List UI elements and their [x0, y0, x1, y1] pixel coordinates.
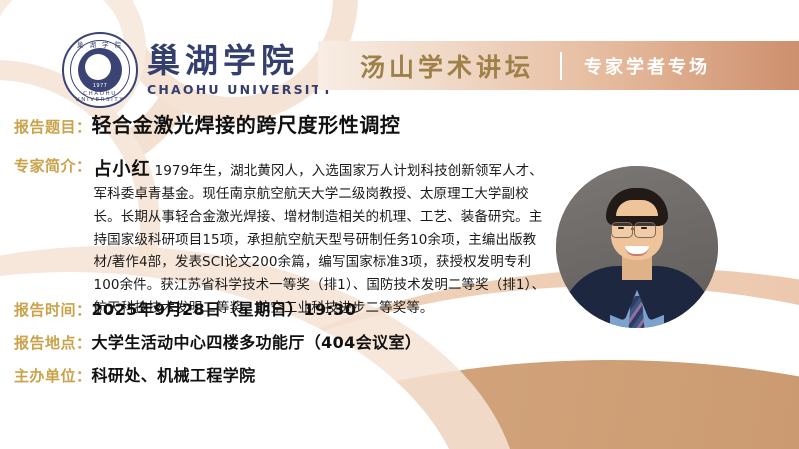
seal-ring-top-text: 巢 湖 学 院: [64, 39, 136, 49]
portrait-glasses-right-lens: [634, 222, 656, 238]
speaker-bio-label: 专家简介：: [14, 155, 92, 176]
report-host-row: 主办单位： 科研处、机械工程学院: [14, 362, 256, 386]
lecture-poster: 巢 湖 学 院 巢 1977 CHAOHU UNIVERSITY 巢湖学院 CH…: [0, 0, 799, 449]
report-title-label: 报告题目：: [14, 116, 92, 137]
report-host-label: 主办单位：: [14, 365, 92, 386]
university-seal-icon: 巢 湖 学 院 巢 1977 CHAOHU UNIVERSITY: [62, 32, 138, 108]
report-time-row: 报告时间： 2025年9月28日（星期日）19:30: [14, 296, 356, 320]
speaker-portrait: [556, 166, 718, 328]
report-host-value: 科研处、机械工程学院: [92, 362, 256, 386]
report-time-value: 2025年9月28日（星期日）19:30: [92, 296, 357, 320]
report-title-value: 轻合金激光焊接的跨尺度形性调控: [92, 109, 401, 138]
report-place-value: 大学生活动中心四楼多功能厅（404会议室）: [92, 329, 422, 353]
portrait-glasses-bridge: [631, 228, 634, 230]
speaker-name: 占小红: [94, 159, 151, 180]
seal-ring-bottom-text: CHAOHU UNIVERSITY: [64, 91, 136, 103]
speaker-bio-text: 1979年生，湖北黄冈人，入选国家万人计划科技创新领军人才、军科委卓青基金。现任…: [94, 163, 546, 316]
seal-glyph: 巢: [64, 60, 136, 77]
portrait-glasses-left-lens: [611, 222, 633, 238]
report-place-row: 报告地点： 大学生活动中心四楼多功能厅（404会议室）: [14, 329, 421, 353]
seal-year: 1977: [64, 83, 136, 89]
report-title-row: 报告题目： 轻合金激光焊接的跨尺度形性调控: [14, 109, 401, 138]
report-time-label: 报告时间：: [14, 299, 92, 320]
report-place-label: 报告地点：: [14, 332, 92, 353]
